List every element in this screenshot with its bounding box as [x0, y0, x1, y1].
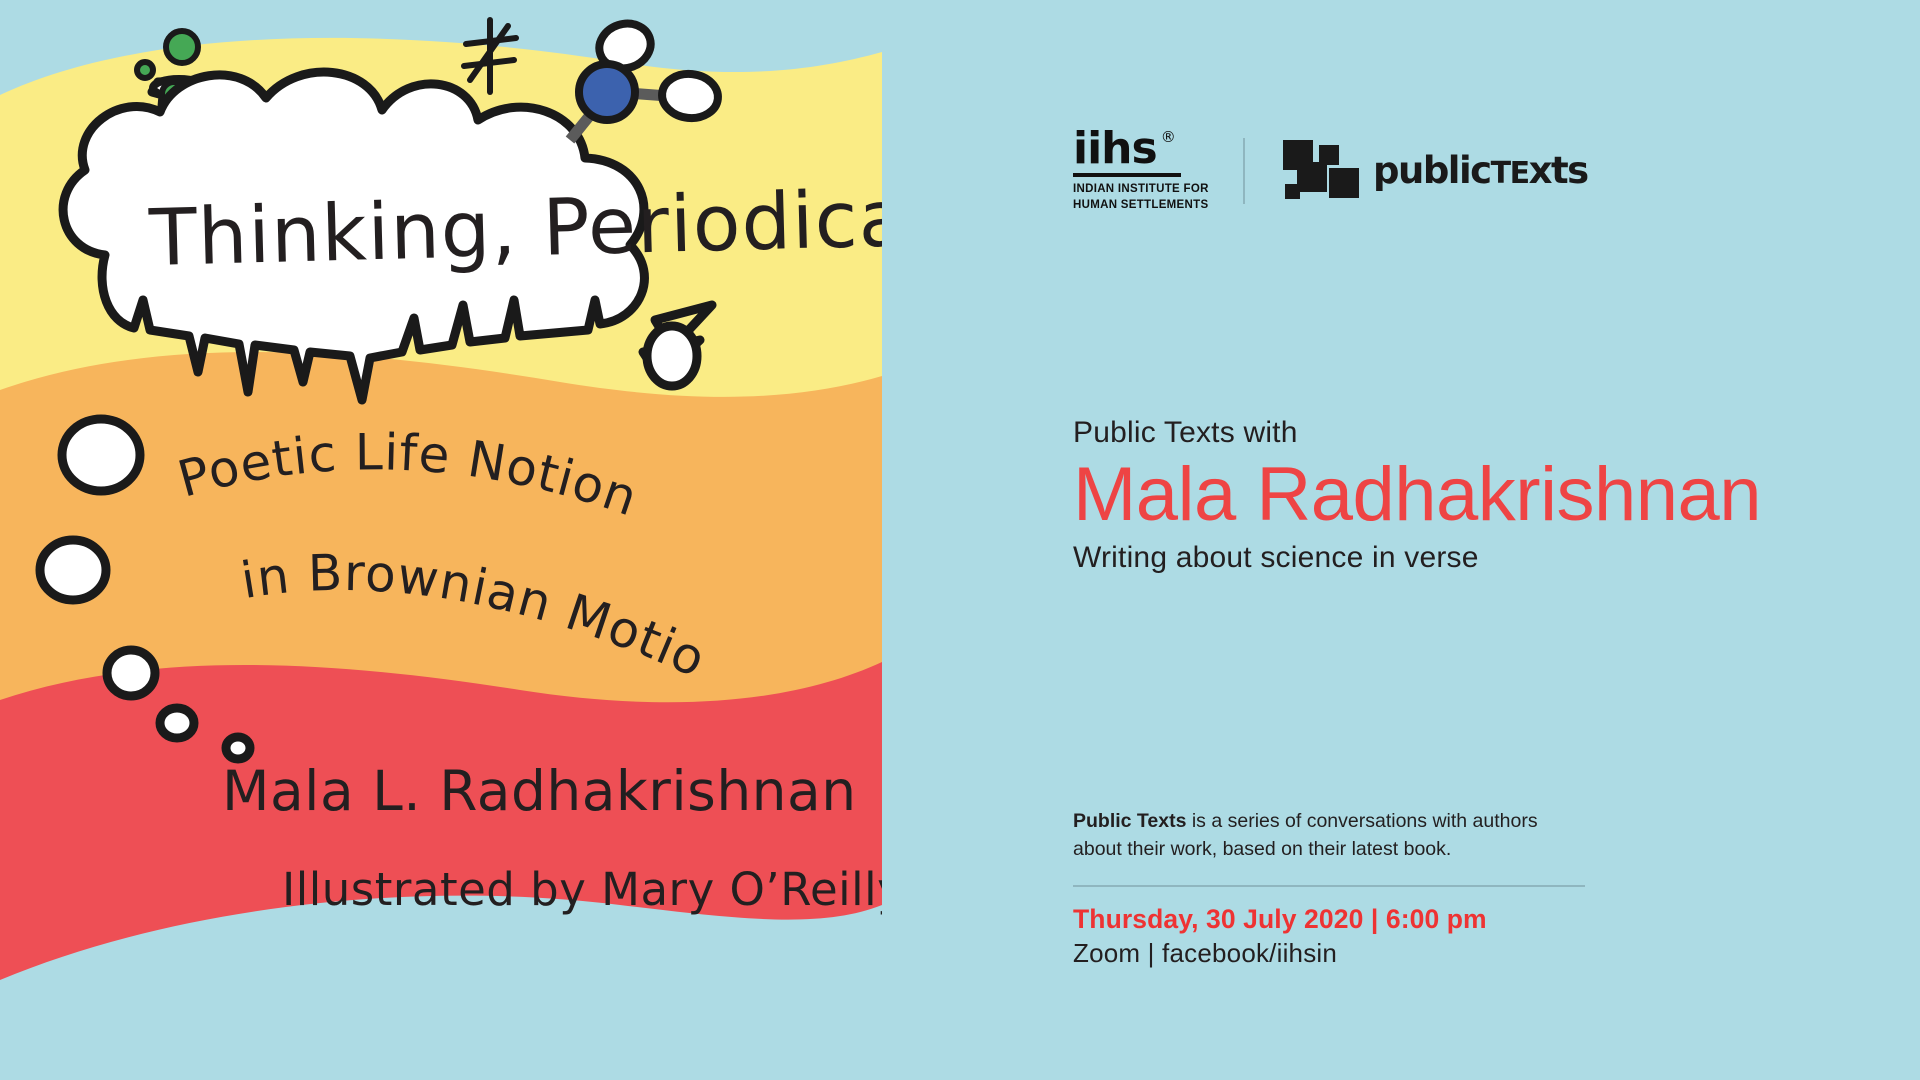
- event-info-panel: iihs® INDIAN INSTITUTE FOR HUMAN SETTLEM…: [1060, 0, 1920, 1080]
- event-channels: Zoom | facebook/iihsin: [1073, 938, 1588, 969]
- iihs-subtitle-line1: INDIAN INSTITUTE FOR: [1073, 182, 1193, 198]
- footer-divider: [1073, 885, 1585, 887]
- series-label: Public Texts: [1073, 810, 1186, 832]
- iihs-logo: iihs® INDIAN INSTITUTE FOR HUMAN SETTLEM…: [1073, 128, 1193, 214]
- pt-word-xts: xts: [1529, 149, 1588, 192]
- tagline-text: Writing about science in verse: [1073, 541, 1761, 575]
- iihs-wordmark-label: iihs: [1073, 123, 1157, 174]
- cover-illustrator: Illustrated by Mary O’Reilly: [282, 863, 900, 916]
- cloud-tail-bubble: [647, 326, 697, 386]
- public-texts-wordmark: publicTExts: [1373, 149, 1588, 192]
- book-cover-svg: Thinking, Periodically Poetic Life Notio…: [0, 0, 900, 1080]
- iihs-subtitle-line2: HUMAN SETTLEMENTS: [1073, 198, 1193, 214]
- iihs-wordmark-text: iihs®: [1073, 128, 1157, 170]
- pt-word-public: public: [1373, 149, 1491, 192]
- cover-author: Mala L. Radhakrishnan: [222, 759, 857, 823]
- public-texts-logo: publicTExts: [1283, 140, 1588, 202]
- speaker-name: Mala Radhakrishnan: [1073, 453, 1761, 537]
- registered-trademark-icon: ®: [1161, 130, 1175, 144]
- pt-word-t: T: [1491, 156, 1510, 191]
- kicker-text: Public Texts with: [1073, 415, 1761, 451]
- event-datetime: Thursday, 30 July 2020 | 6:00 pm: [1073, 904, 1588, 935]
- pt-word-e: E: [1510, 156, 1529, 191]
- logo-row: iihs® INDIAN INSTITUTE FOR HUMAN SETTLEM…: [1073, 128, 1588, 214]
- public-texts-squares-icon: [1283, 140, 1359, 202]
- headline-block: Public Texts with Mala Radhakrishnan Wri…: [1073, 415, 1761, 575]
- footer-block: Public Texts is a series of conversation…: [1073, 808, 1588, 969]
- book-cover-artwork: Thinking, Periodically Poetic Life Notio…: [0, 0, 900, 1080]
- series-description: Public Texts is a series of conversation…: [1073, 808, 1588, 863]
- logo-divider: [1243, 138, 1245, 204]
